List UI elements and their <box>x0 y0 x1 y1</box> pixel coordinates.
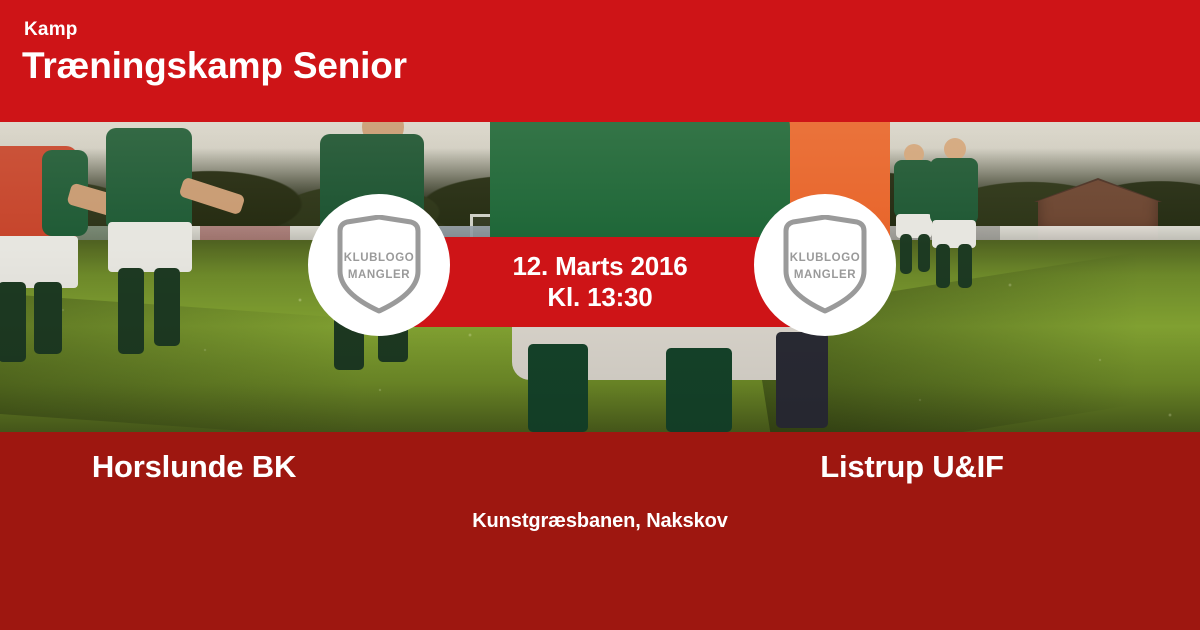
header-kicker: Kamp <box>24 20 1200 39</box>
photo-player <box>96 122 246 372</box>
away-club-logo-line1: KLUBLOGO <box>790 250 861 267</box>
page-title: Træningskamp Senior <box>22 47 1200 86</box>
away-club-logo-text: KLUBLOGO MANGLER <box>790 250 861 283</box>
shield-icon: KLUBLOGO MANGLER <box>332 215 426 315</box>
away-club-logo: KLUBLOGO MANGLER <box>754 194 896 336</box>
match-time: Kl. 13:30 <box>547 282 652 313</box>
header-band: Kamp Træningskamp Senior <box>0 0 1200 122</box>
away-team-name: Listrup U&IF <box>600 448 1200 485</box>
photo-player <box>918 140 1008 340</box>
match-venue: Kunstgræsbanen, Nakskov <box>0 510 1200 533</box>
match-info-band: Horslunde BK Listrup U&IF Kunstgræsbanen… <box>0 432 1200 630</box>
home-team-name: Horslunde BK <box>0 448 600 485</box>
away-club-logo-line2: MANGLER <box>790 267 861 284</box>
home-club-logo: KLUBLOGO MANGLER <box>308 194 450 336</box>
match-datetime-banner: 12. Marts 2016 Kl. 13:30 <box>400 237 800 327</box>
teams-row: Horslunde BK Listrup U&IF <box>0 448 1200 485</box>
match-poster: Kamp Træningskamp Senior <box>0 0 1200 630</box>
home-club-logo-line2: MANGLER <box>344 267 415 284</box>
home-club-logo-line1: KLUBLOGO <box>344 250 415 267</box>
match-date: 12. Marts 2016 <box>513 251 688 282</box>
home-club-logo-text: KLUBLOGO MANGLER <box>344 250 415 283</box>
shield-icon: KLUBLOGO MANGLER <box>778 215 872 315</box>
